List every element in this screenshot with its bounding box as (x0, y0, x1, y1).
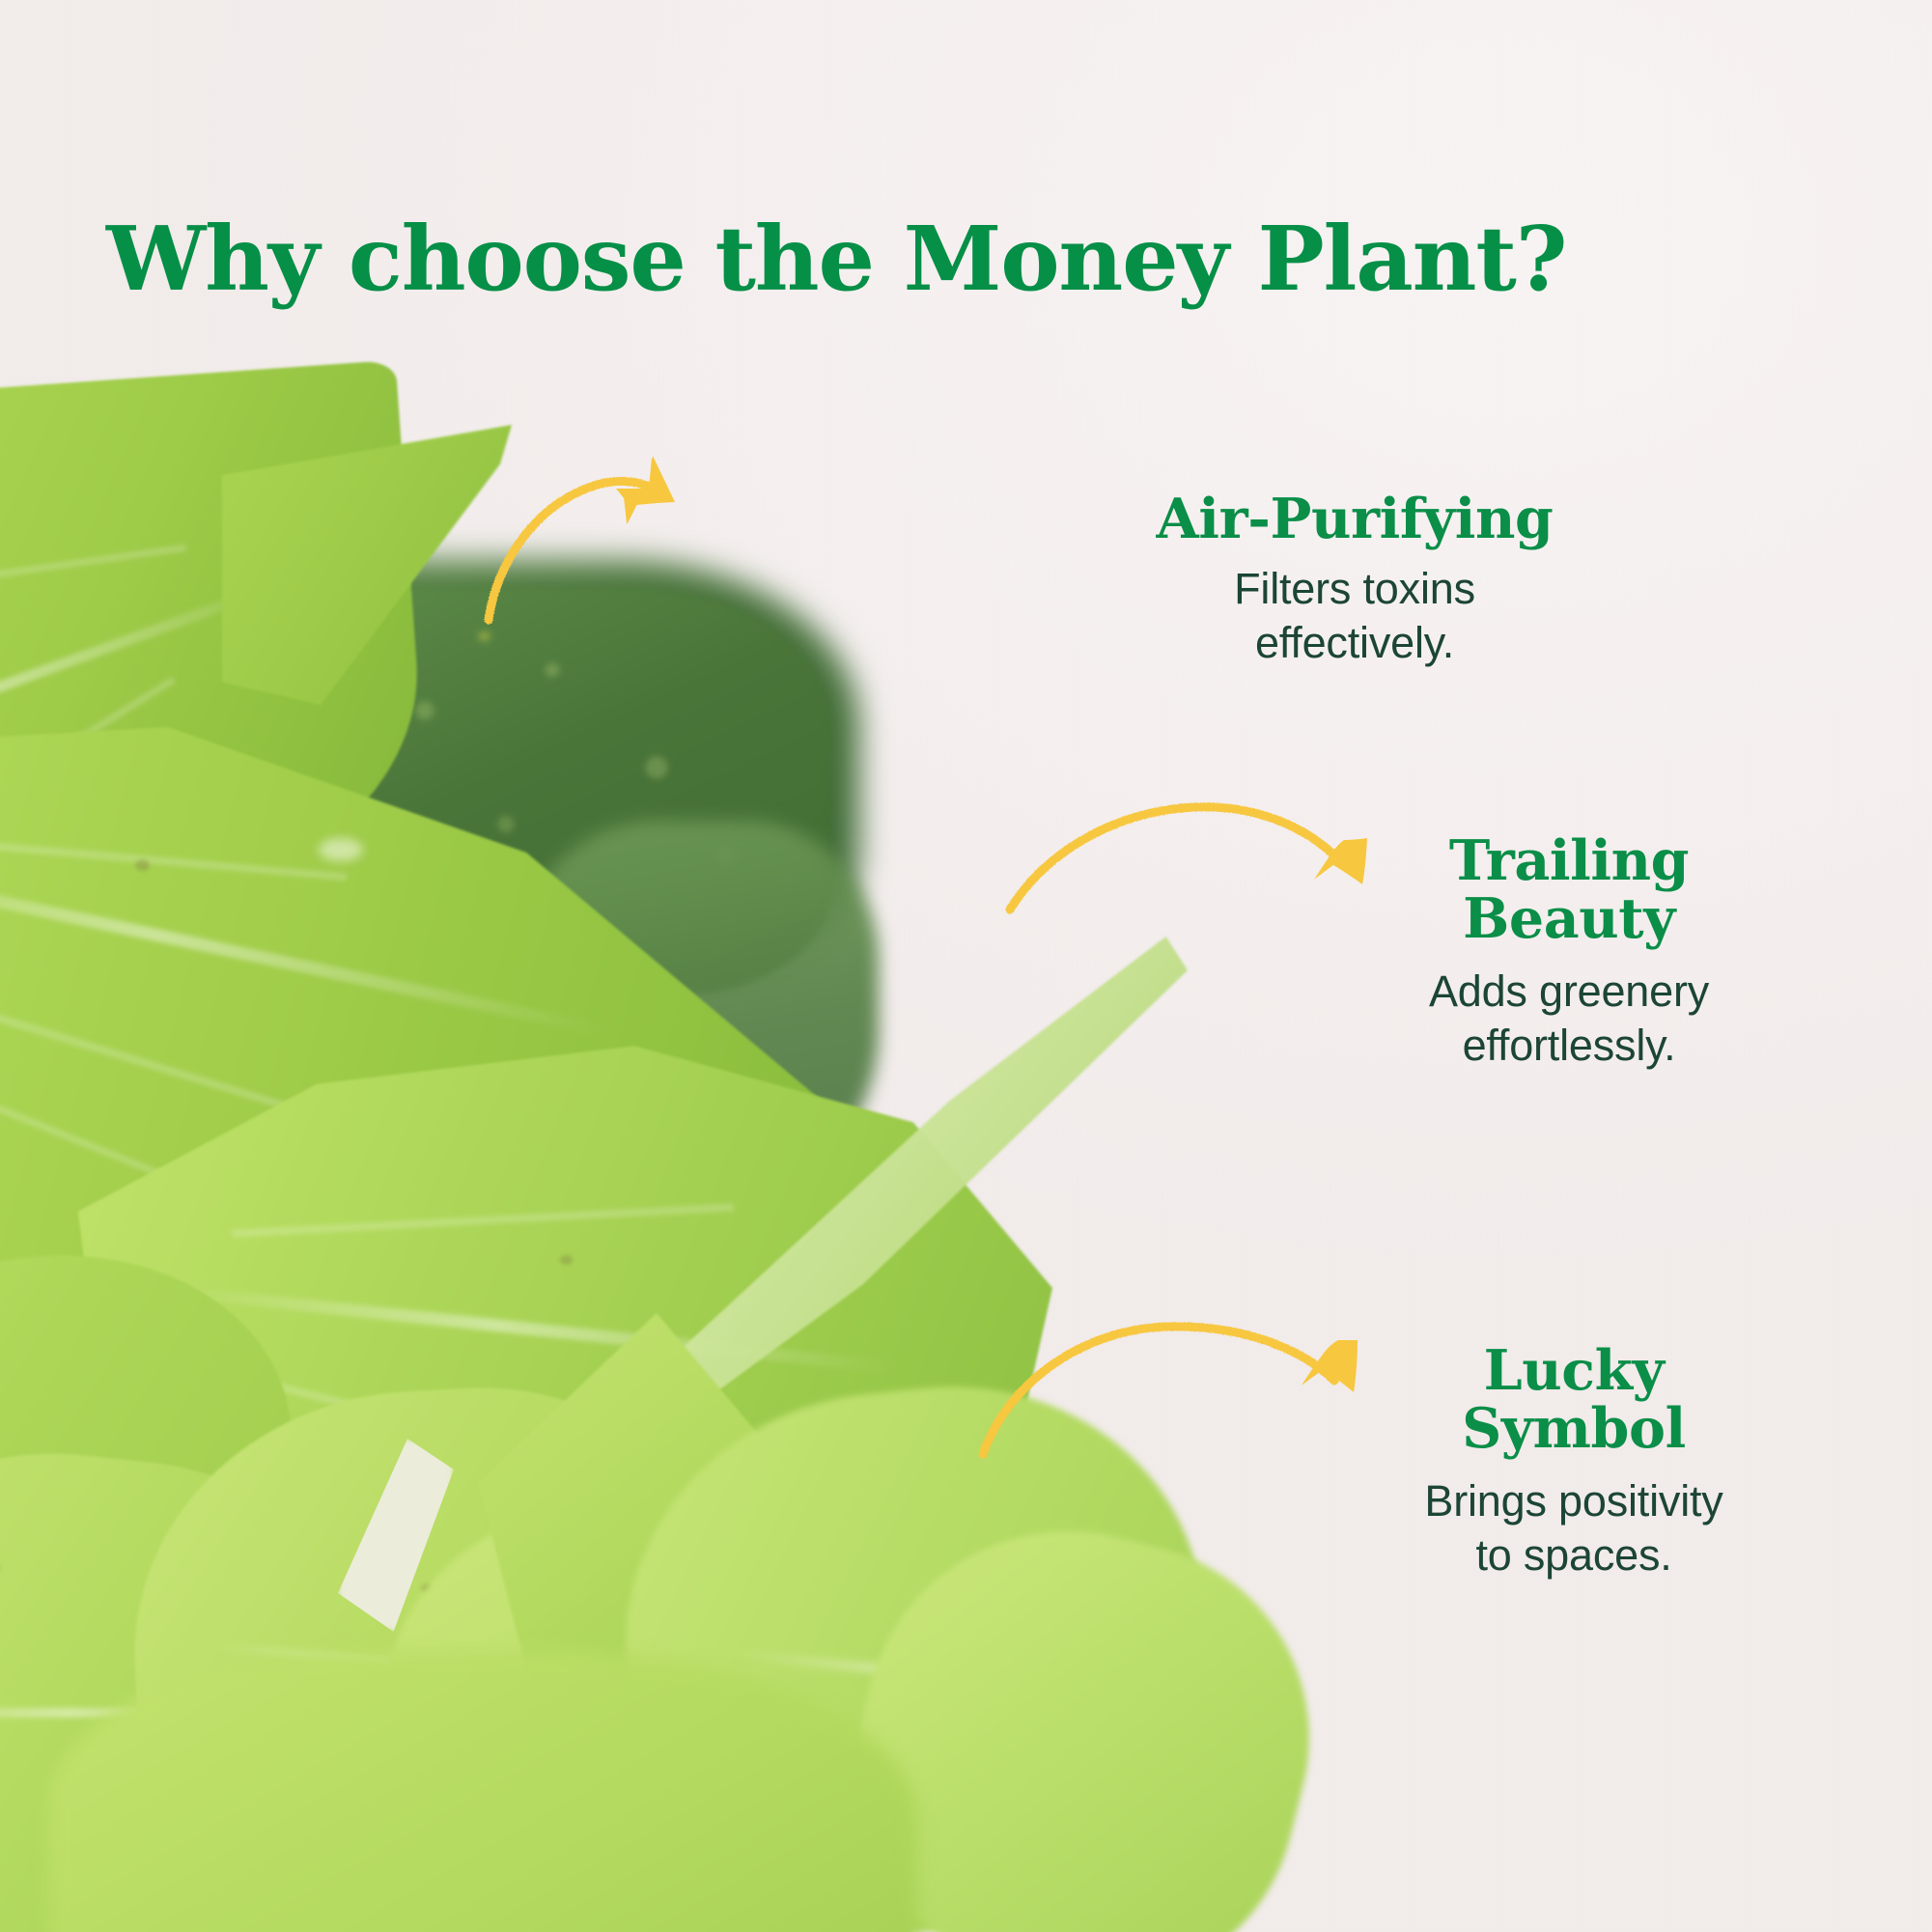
callout-air-purifying: Air-Purifying Filters toxins effectively… (1128, 490, 1582, 670)
callout-heading: Trailing Beauty (1352, 832, 1786, 949)
curved-arrow-right-icon (483, 454, 763, 628)
leaf-bottom-foreground-blur (48, 1651, 917, 1932)
infographic-canvas: Why choose the Money Plant? (0, 0, 1932, 1932)
callout-lucky-symbol: Lucky Symbol Brings positivity to spaces… (1352, 1342, 1796, 1582)
callout-body: Filters toxins effectively. (1128, 562, 1582, 670)
callout-trailing-beauty: Trailing Beauty Adds greenery effortless… (1352, 832, 1786, 1072)
curved-arrow-right-icon (975, 1294, 1381, 1468)
callout-body: Brings positivity to spaces. (1352, 1474, 1796, 1582)
callout-heading: Lucky Symbol (1352, 1342, 1796, 1459)
curved-arrow-right-icon (1004, 801, 1390, 956)
page-title: Why choose the Money Plant? (106, 212, 1554, 307)
leaf-top-left-tip (222, 425, 512, 705)
callout-heading: Air-Purifying (1128, 490, 1582, 548)
callout-body: Adds greenery effortlessly. (1352, 965, 1786, 1073)
